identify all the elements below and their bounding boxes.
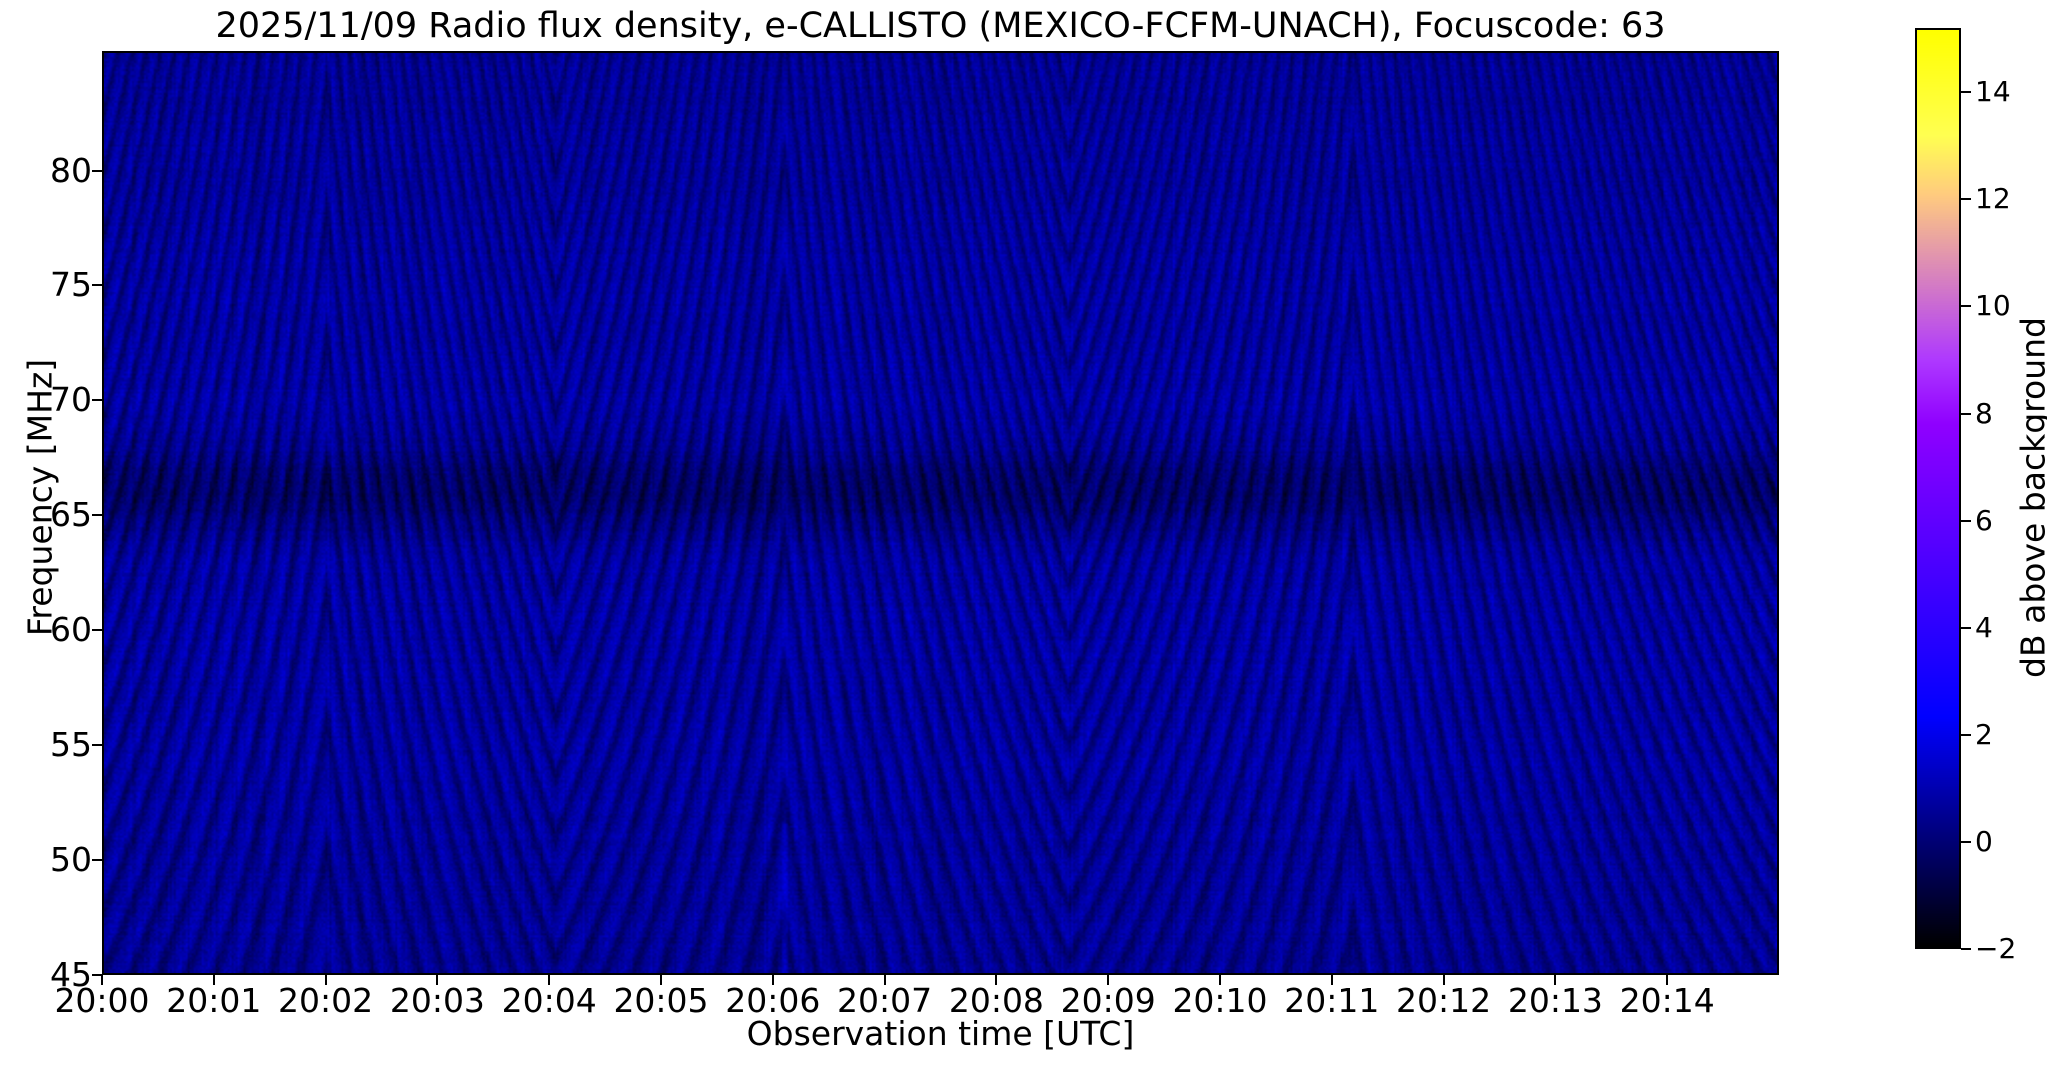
x-tick-label: 20:14 <box>1577 981 1757 1020</box>
y-tick-mark <box>92 170 102 172</box>
colorbar-tick-label: 10 <box>1975 289 2011 323</box>
x-tick-mark <box>1666 975 1668 985</box>
colorbar-tick-mark <box>1961 91 1971 93</box>
colorbar-tick-label: 2 <box>1975 718 1993 752</box>
colorbar-tick-mark <box>1961 841 1971 843</box>
x-tick-mark <box>1443 975 1445 985</box>
colorbar-tick-mark <box>1961 413 1971 415</box>
y-tick-mark <box>92 284 102 286</box>
y-tick-mark <box>92 629 102 631</box>
page-title: 2025/11/09 Radio flux density, e-CALLIST… <box>102 4 1779 48</box>
y-tick-label: 50 <box>0 842 92 878</box>
y-tick-mark <box>92 399 102 401</box>
y-tick-mark <box>92 744 102 746</box>
y-tick-label: 65 <box>0 497 92 533</box>
x-tick-mark <box>101 975 103 985</box>
y-tick-label: 70 <box>0 382 92 418</box>
x-tick-mark <box>1219 975 1221 985</box>
colorbar-tick-label: 4 <box>1975 611 1993 645</box>
colorbar-tick-label: 0 <box>1975 825 1993 859</box>
colorbar-tick-mark <box>1961 734 1971 736</box>
x-tick-mark <box>548 975 550 985</box>
colorbar-tick-label: 14 <box>1975 75 2011 109</box>
y-tick-label: 55 <box>0 727 92 763</box>
colorbar-label: dB above background <box>2014 218 2047 778</box>
colorbar-tick-mark <box>1961 627 1971 629</box>
y-tick-mark <box>92 514 102 516</box>
x-tick-mark <box>995 975 997 985</box>
x-tick-mark <box>1554 975 1556 985</box>
spectrogram-image[interactable] <box>104 53 1777 973</box>
x-tick-mark <box>325 975 327 985</box>
colorbar-tick-mark <box>1961 520 1971 522</box>
y-tick-label: 60 <box>0 612 92 648</box>
colorbar-tick-label: 8 <box>1975 397 1993 431</box>
x-tick-mark <box>884 975 886 985</box>
colorbar-tick-label: 6 <box>1975 504 1993 538</box>
colorbar-tick-mark <box>1961 198 1971 200</box>
y-tick-label: 80 <box>0 153 92 189</box>
x-tick-mark <box>772 975 774 985</box>
y-tick-mark <box>92 859 102 861</box>
colorbar[interactable] <box>1915 28 1961 949</box>
x-tick-mark <box>660 975 662 985</box>
spectrogram-axes[interactable] <box>102 51 1779 975</box>
x-tick-mark <box>213 975 215 985</box>
y-tick-label: 75 <box>0 267 92 303</box>
colorbar-tick-label: 12 <box>1975 182 2011 216</box>
x-tick-mark <box>1107 975 1109 985</box>
colorbar-tick-label: −2 <box>1975 932 2016 966</box>
x-tick-mark <box>436 975 438 985</box>
colorbar-tick-mark <box>1961 948 1971 950</box>
spectrogram-figure: 2025/11/09 Radio flux density, e-CALLIST… <box>0 0 2047 1067</box>
colorbar-gradient <box>1917 30 1959 947</box>
x-tick-mark <box>1331 975 1333 985</box>
colorbar-tick-mark <box>1961 305 1971 307</box>
